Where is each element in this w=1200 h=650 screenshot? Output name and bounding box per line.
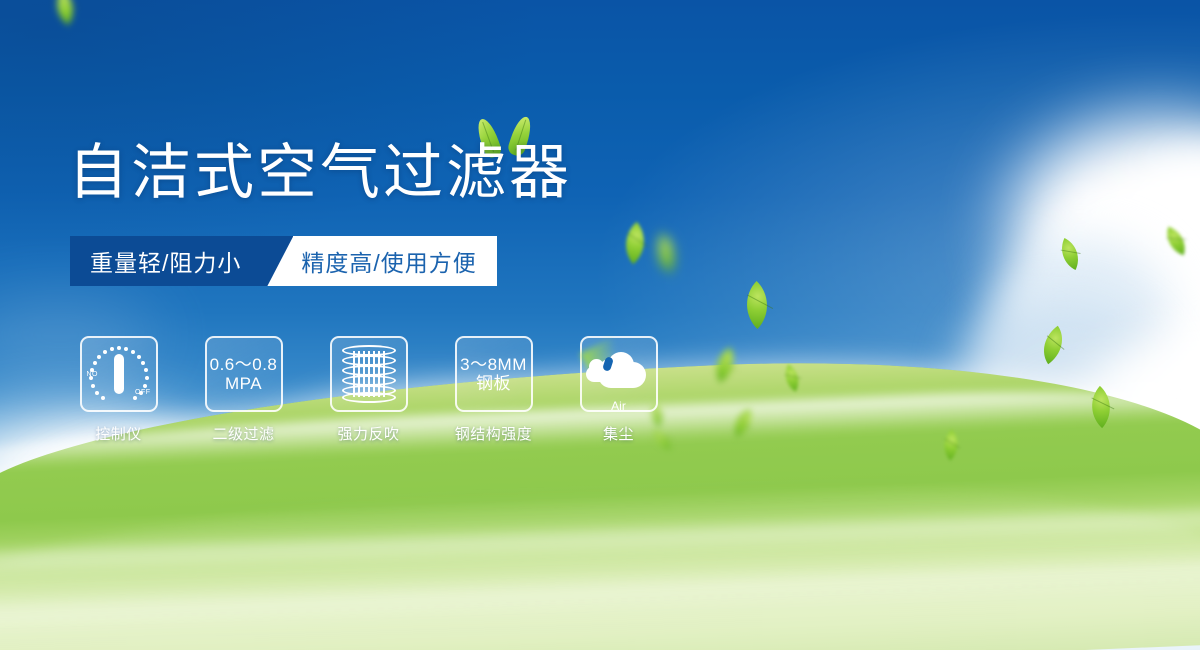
feature-icon-box: Air [580,336,658,412]
feature-item-steel-strength[interactable]: 3～8MM 钢板 钢结构强度 [445,336,542,444]
feature-text-line1: 3～8MM [460,355,527,374]
subtitle-badge: 重量轻/阻力小 精度高/使用方便 [70,236,497,286]
subtitle-divider [267,236,293,286]
subtitle-left: 重量轻/阻力小 [70,236,267,286]
feature-item-control-unit[interactable]: NO OFF 控制仪 [70,336,167,444]
feature-text-line2: 钢板 [460,374,527,393]
feature-item-strong-backblow[interactable]: 强力反吹 [320,336,417,444]
dial-label-on: NO [87,371,99,378]
feature-item-dust-collection[interactable]: Air 集尘 [570,336,667,444]
feature-label: 控制仪 [95,423,142,444]
page-title: 自洁式空气过滤器 [68,143,572,203]
pressure-text-icon: 0.6～0.8 MPA [210,355,278,393]
filter-cartridge-icon [342,345,396,403]
feature-icon-box: NO OFF [80,336,158,412]
feature-list: NO OFF 控制仪 0.6～0.8 MPA 二级过滤 [70,336,667,444]
feature-label: 二级过滤 [212,423,274,444]
feature-label: 集尘 [603,423,634,444]
feature-text-line2: MPA [210,374,278,393]
dial-gauge-icon: NO OFF [88,345,150,403]
subtitle-right: 精度高/使用方便 [293,236,496,286]
cloud-air-label: Air [586,399,652,413]
cloud-air-icon: Air [586,348,652,400]
feature-text-line1: 0.6～0.8 [210,355,278,374]
steel-plate-text-icon: 3～8MM 钢板 [460,355,527,393]
feature-icon-box: 0.6～0.8 MPA [205,336,283,412]
promo-banner: 自洁式空气过滤器 重量轻/阻力小 精度高/使用方便 [0,0,1200,650]
feature-label: 强力反吹 [337,423,399,444]
feature-item-two-stage-filter[interactable]: 0.6～0.8 MPA 二级过滤 [195,336,292,444]
feature-icon-box [330,336,408,412]
feature-icon-box: 3～8MM 钢板 [455,336,533,412]
dial-label-off: OFF [135,389,151,396]
feature-label: 钢结构强度 [455,423,533,444]
